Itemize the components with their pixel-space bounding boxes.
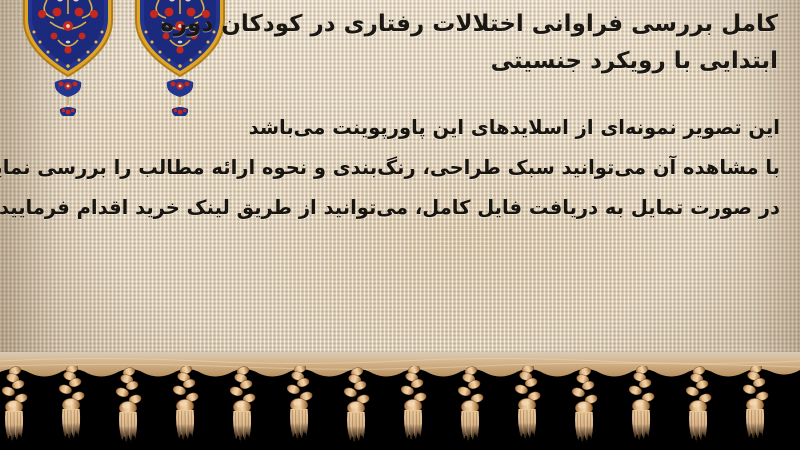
slide-canvas: کامل بررسی فراوانی اختلالات رفتاری در کو…	[0, 0, 800, 450]
tassel-item	[172, 366, 199, 441]
tassel-item	[343, 366, 370, 443]
tassel-item	[514, 366, 541, 440]
tassel-item	[685, 366, 712, 442]
slide-body: این تصویر نمونه‌ای از اسلایدهای این پاور…	[18, 108, 780, 228]
tassel-row	[0, 366, 800, 450]
body-line-2: با مشاهده آن می‌توانید سبک طراحی، رنگ‌بن…	[18, 148, 780, 188]
tassel-item	[229, 366, 256, 442]
tassel-item	[628, 366, 655, 441]
tassel-item	[400, 366, 427, 441]
tassel-item	[286, 366, 313, 440]
title-line-1: کامل بررسی فراوانی اختلالات رفتاری در کو…	[218, 6, 778, 43]
tassel-item	[571, 366, 598, 443]
tassel-item	[58, 366, 85, 440]
tassel-item	[742, 366, 769, 440]
text-layer: کامل بررسی فراوانی اختلالات رفتاری در کو…	[0, 0, 800, 378]
tassel-item	[115, 366, 142, 443]
slide-title: کامل بررسی فراوانی اختلالات رفتاری در کو…	[218, 6, 778, 81]
body-line-1: این تصویر نمونه‌ای از اسلایدهای این پاور…	[18, 108, 780, 148]
body-line-3: در صورت تمایل به دریافت فایل کامل، می‌تو…	[18, 188, 780, 228]
tassel-fringe-border	[0, 352, 800, 450]
tassel-item	[457, 366, 484, 442]
tassel-item	[1, 366, 28, 442]
title-line-2: ابتدایی با رویکرد جنسیتی	[218, 43, 778, 80]
